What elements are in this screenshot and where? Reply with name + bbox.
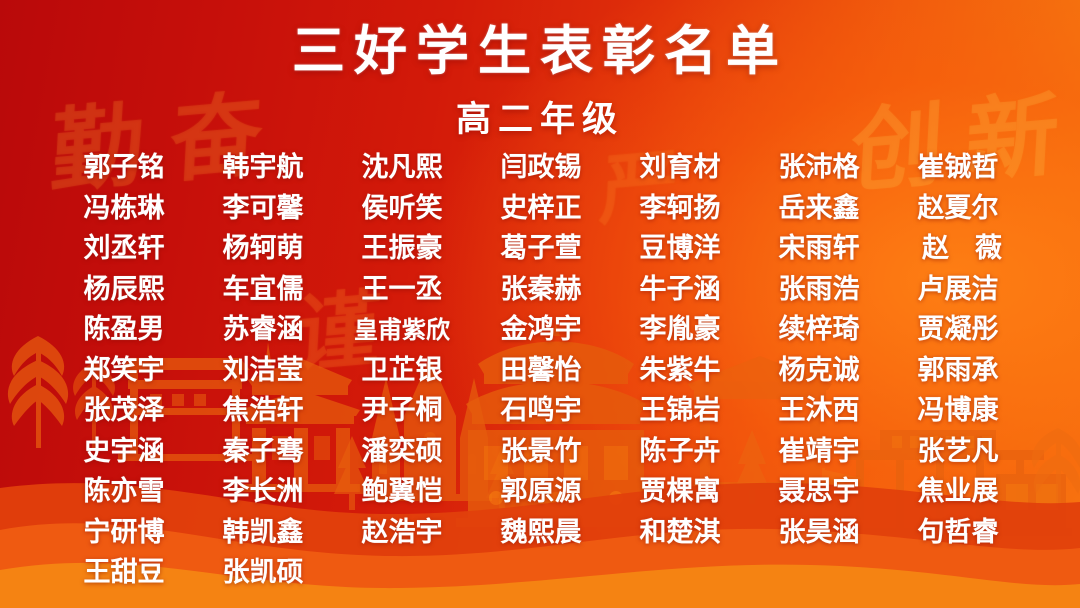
student-name: 郭子铭 (62, 148, 186, 189)
page-title: 三好学生表彰名单 (0, 22, 1080, 81)
name-column-4: 闫政锡史梓正葛子萱张秦赫金鸿宇田馨怡石鸣宇张景竹郭原源魏熙晨 (479, 148, 603, 553)
student-name: 豆博洋 (618, 229, 742, 270)
student-name: 刘丞轩 (62, 229, 186, 270)
student-name: 崔铖哲 (896, 148, 1020, 189)
title-block: 三好学生表彰名单 高二年级 (0, 22, 1080, 142)
student-name: 李轲扬 (618, 189, 742, 230)
student-name: 张昊涵 (757, 513, 881, 554)
student-name: 刘育材 (618, 148, 742, 189)
student-name: 和楚淇 (618, 513, 742, 554)
student-name: 赵浩宇 (340, 513, 464, 554)
student-name: 牛子涵 (618, 270, 742, 311)
student-name: 李胤豪 (618, 310, 742, 351)
student-name: 张凯硕 (201, 553, 325, 594)
student-name: 李长洲 (201, 472, 325, 513)
student-name: 王锦岩 (618, 391, 742, 432)
student-name: 张艺凡 (896, 432, 1020, 473)
student-name: 秦子骞 (201, 432, 325, 473)
student-name: 潘奕硕 (340, 432, 464, 473)
student-name: 焦浩轩 (201, 391, 325, 432)
student-name: 韩凯鑫 (201, 513, 325, 554)
student-name: 焦业展 (896, 472, 1020, 513)
name-column-5: 刘育材李轲扬豆博洋牛子涵李胤豪朱紫牛王锦岩陈子卉贾棵寓和楚淇 (618, 148, 742, 553)
page-subtitle: 高二年级 (0, 91, 1080, 142)
student-name: 张雨浩 (757, 270, 881, 311)
student-name: 韩宇航 (201, 148, 325, 189)
student-name: 苏睿涵 (201, 310, 325, 351)
student-name: 王振豪 (340, 229, 464, 270)
student-name: 沈凡熙 (340, 148, 464, 189)
tree-right-icon (1032, 428, 1080, 524)
student-name: 史梓正 (479, 189, 603, 230)
name-column-7: 崔铖哲赵夏尔赵薇卢展洁贾凝彤郭雨承冯博康张艺凡焦业展句哲睿 (896, 148, 1020, 553)
student-name: 陈盈男 (62, 310, 186, 351)
student-name: 贾棵寓 (618, 472, 742, 513)
award-poster: 勤奋 谨 创新 严 (0, 0, 1080, 608)
name-column-1: 郭子铭冯栋琳刘丞轩杨辰熙陈盈男郑笑宇张茂泽史宇涵陈亦雪宁研博王甜豆 (62, 148, 186, 594)
student-name: 冯栋琳 (62, 189, 186, 230)
student-name: 王甜豆 (62, 553, 186, 594)
student-name: 尹子桐 (340, 391, 464, 432)
student-name: 宋雨轩 (757, 229, 881, 270)
student-name: 续梓琦 (757, 310, 881, 351)
student-name: 闫政锡 (479, 148, 603, 189)
student-name: 崔靖宇 (757, 432, 881, 473)
student-name: 李可馨 (201, 189, 325, 230)
student-name: 张沛格 (757, 148, 881, 189)
student-name: 王一丞 (340, 270, 464, 311)
student-name: 金鸿宇 (479, 310, 603, 351)
name-column-2: 韩宇航李可馨杨轲萌车宜儒苏睿涵刘洁莹焦浩轩秦子骞李长洲韩凯鑫张凯硕 (201, 148, 325, 594)
student-name: 杨克诚 (757, 351, 881, 392)
student-name: 陈子卉 (618, 432, 742, 473)
student-name: 朱紫牛 (618, 351, 742, 392)
student-name: 石鸣宇 (479, 391, 603, 432)
student-name: 贾凝彤 (896, 310, 1020, 351)
student-name: 杨辰熙 (62, 270, 186, 311)
student-name-grid: 郭子铭冯栋琳刘丞轩杨辰熙陈盈男郑笑宇张茂泽史宇涵陈亦雪宁研博王甜豆韩宇航李可馨杨… (62, 148, 1020, 594)
student-name: 赵薇 (896, 229, 1020, 270)
student-name: 皇甫紫欣 (340, 310, 464, 351)
student-name: 魏熙晨 (479, 513, 603, 554)
student-name: 鲍翼恺 (340, 472, 464, 513)
student-name: 张秦赫 (479, 270, 603, 311)
student-name: 张茂泽 (62, 391, 186, 432)
student-name: 张景竹 (479, 432, 603, 473)
student-name: 郭原源 (479, 472, 603, 513)
name-column-3: 沈凡熙侯听笑王振豪王一丞皇甫紫欣卫芷银尹子桐潘奕硕鲍翼恺赵浩宇 (340, 148, 464, 553)
student-name: 侯听笑 (340, 189, 464, 230)
student-name: 王沐西 (757, 391, 881, 432)
student-name: 冯博康 (896, 391, 1020, 432)
student-name: 葛子萱 (479, 229, 603, 270)
student-name: 田馨怡 (479, 351, 603, 392)
student-name: 赵夏尔 (896, 189, 1020, 230)
student-name: 句哲睿 (896, 513, 1020, 554)
student-name: 陈亦雪 (62, 472, 186, 513)
student-name: 宁研博 (62, 513, 186, 554)
student-name: 聂思宇 (757, 472, 881, 513)
student-name: 郭雨承 (896, 351, 1020, 392)
student-name: 史宇涵 (62, 432, 186, 473)
student-name: 郑笑宇 (62, 351, 186, 392)
student-name: 刘洁莹 (201, 351, 325, 392)
student-name: 卫芷银 (340, 351, 464, 392)
student-name: 卢展洁 (896, 270, 1020, 311)
student-name: 岳来鑫 (757, 189, 881, 230)
tree-left-icon (8, 336, 68, 448)
student-name: 车宜儒 (201, 270, 325, 311)
student-name: 杨轲萌 (201, 229, 325, 270)
name-column-6: 张沛格岳来鑫宋雨轩张雨浩续梓琦杨克诚王沐西崔靖宇聂思宇张昊涵 (757, 148, 881, 553)
